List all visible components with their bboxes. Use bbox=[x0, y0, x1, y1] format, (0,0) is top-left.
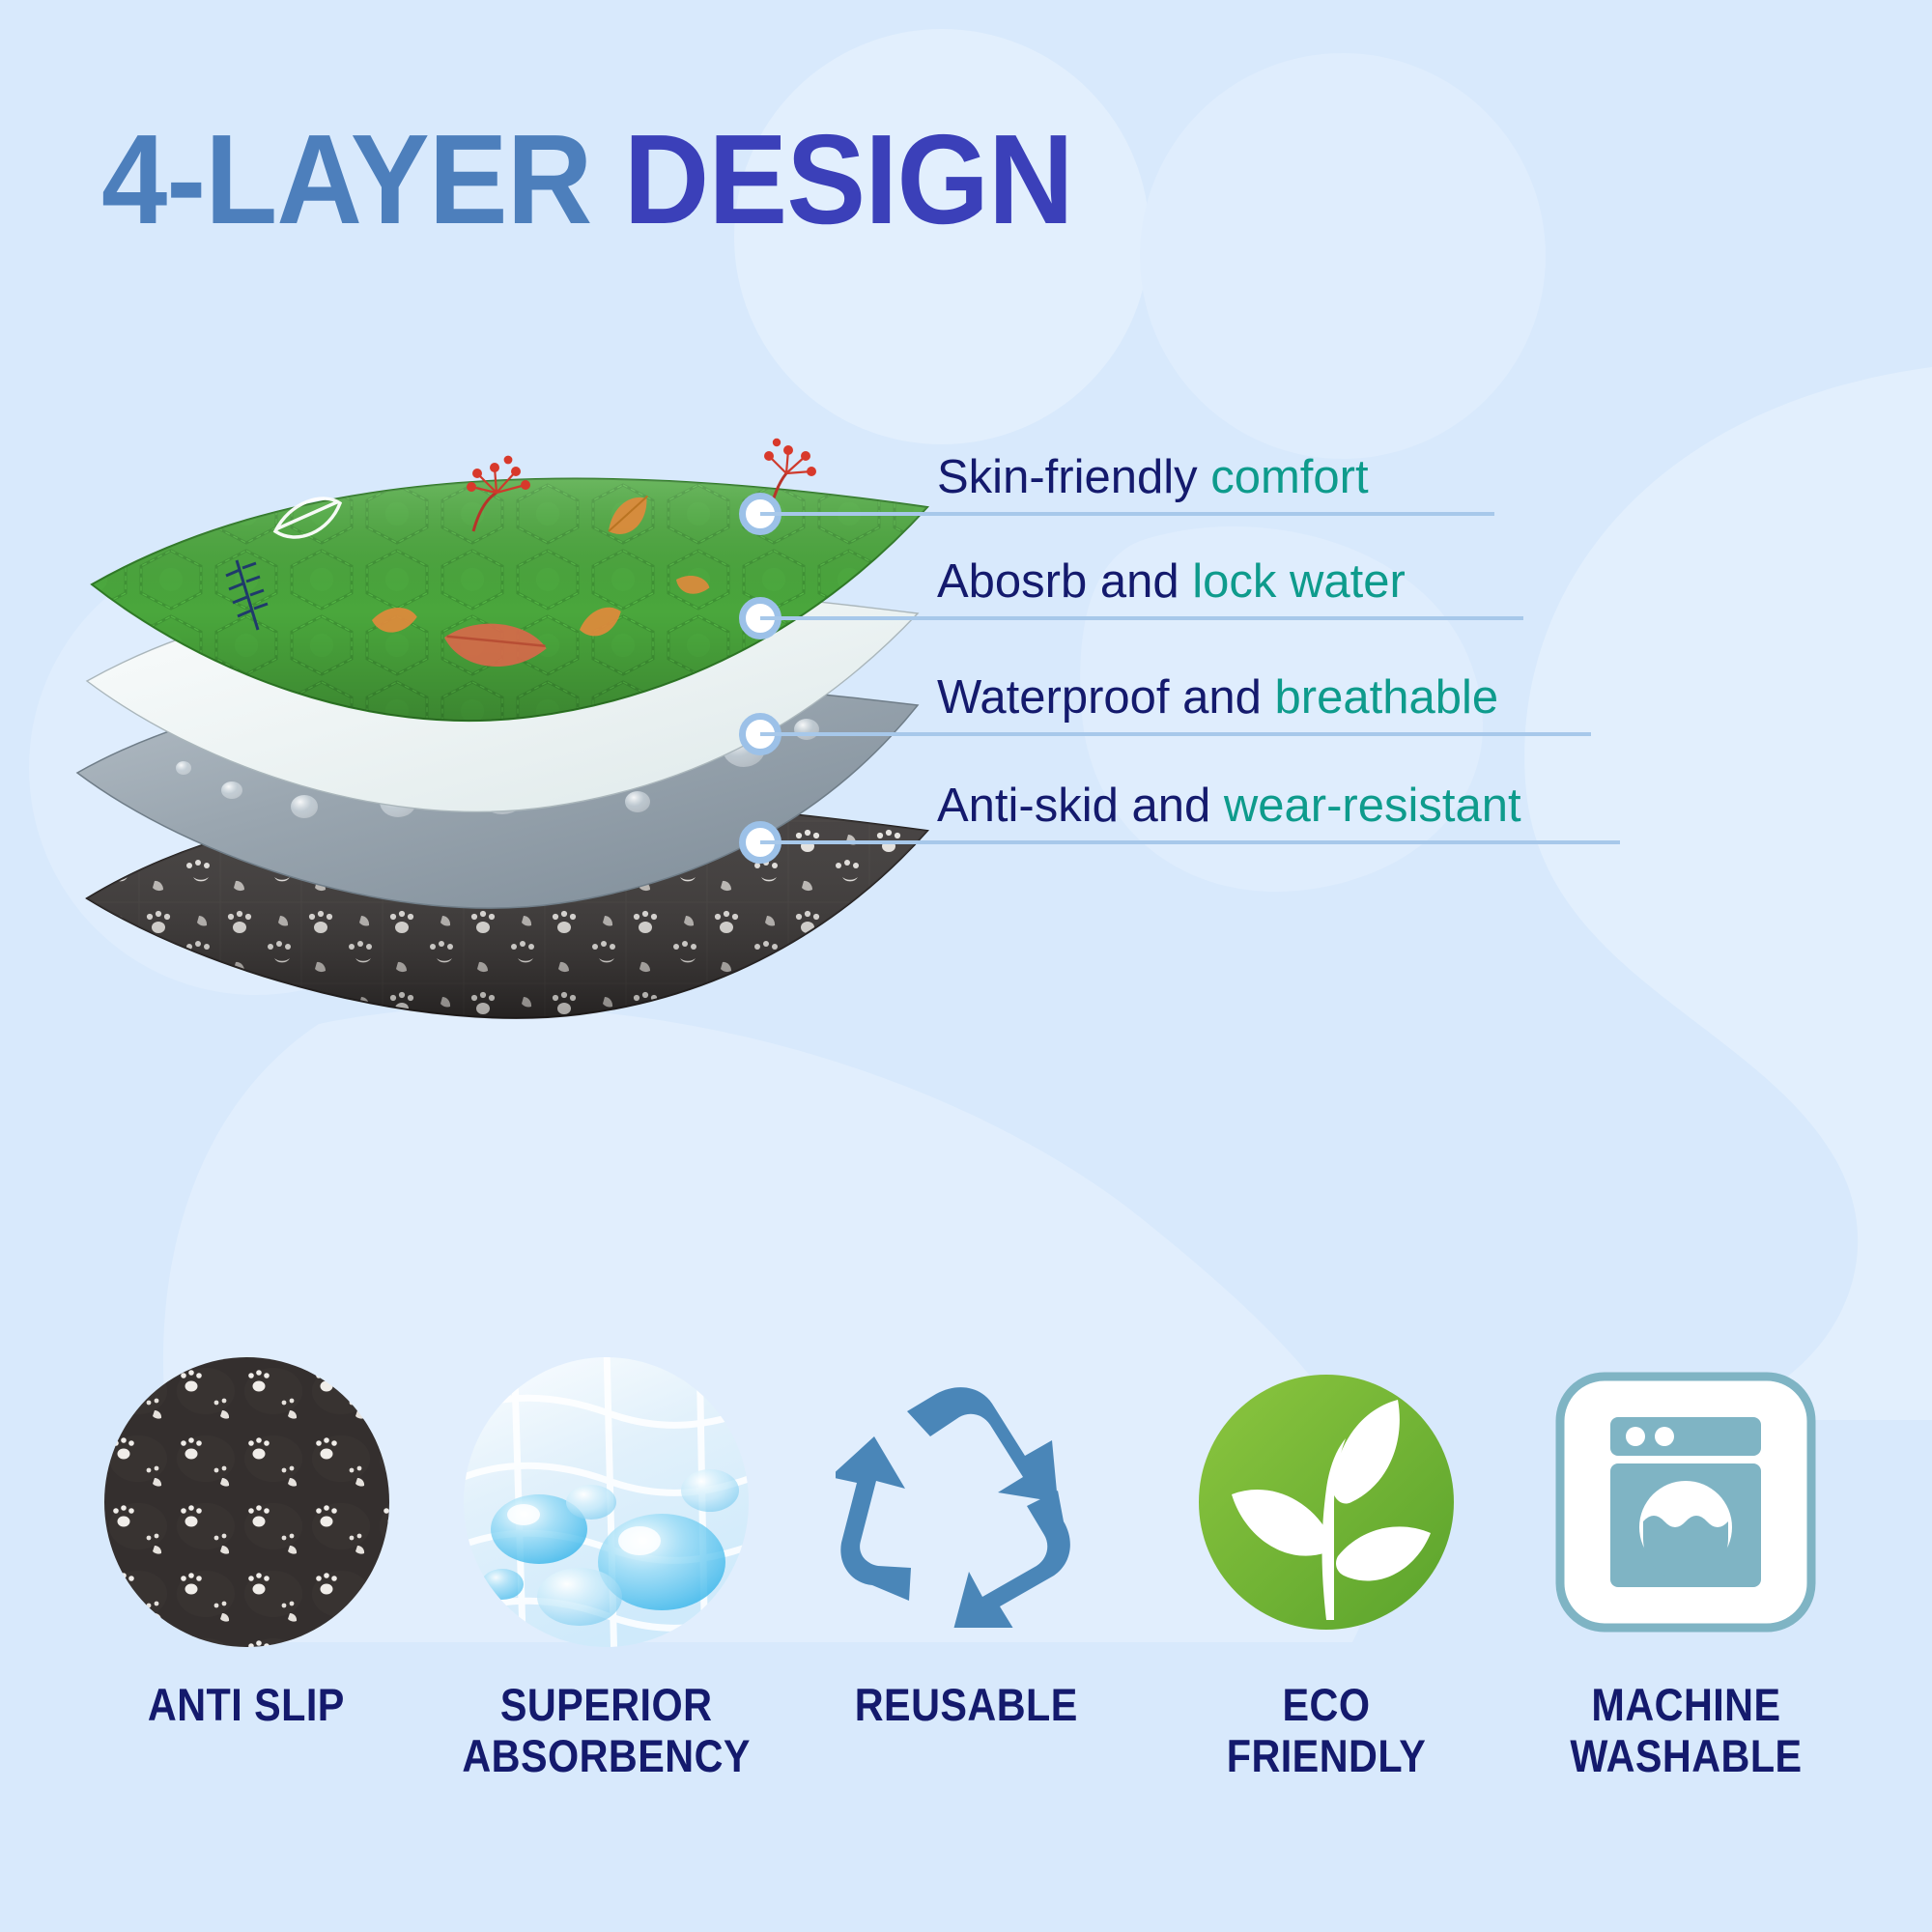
feature-reusable[interactable]: REUSABLE bbox=[797, 1357, 1135, 1731]
callout-text-highlight: wear-resistant bbox=[1224, 780, 1521, 832]
callout-text-plain: Abosrb and bbox=[937, 555, 1179, 608]
feature-eco-friendly[interactable]: ECO FRIENDLY bbox=[1157, 1357, 1495, 1781]
callout-leader-line bbox=[760, 616, 1523, 620]
feature-absorbency[interactable]: SUPERIOR ABSORBENCY bbox=[438, 1357, 776, 1781]
feature-art bbox=[836, 1357, 1096, 1647]
callout-text-plain: Waterproof and bbox=[937, 671, 1262, 724]
callout-leader-line bbox=[760, 840, 1620, 844]
absorbency-bubbles-swatch-icon bbox=[464, 1357, 749, 1647]
callout-leader-line bbox=[760, 732, 1591, 736]
title-part-two: DESIGN bbox=[624, 108, 1073, 250]
title-part-one: 4-LAYER bbox=[101, 108, 591, 250]
eco-leaf-icon bbox=[1191, 1367, 1462, 1637]
feature-art bbox=[104, 1357, 389, 1647]
washing-machine-icon bbox=[1550, 1367, 1821, 1637]
callout-text-highlight: breathable bbox=[1275, 671, 1499, 724]
feature-benefits-row: ANTI SLIP bbox=[0, 1357, 1932, 1898]
feature-caption: ECO FRIENDLY bbox=[1178, 1680, 1475, 1781]
feature-machine-washable[interactable]: MACHINE WASHABLE bbox=[1517, 1357, 1855, 1781]
callout-label-skin-friendly: Skin-friendly comfort bbox=[937, 450, 1369, 504]
callout-label-waterproof: Waterproof and breathable bbox=[937, 670, 1498, 724]
callout-label-absorb: Abosrb and lock water bbox=[937, 554, 1406, 609]
feature-caption: REUSABLE bbox=[854, 1680, 1077, 1731]
callout-label-anti-skid: Anti-skid and wear-resistant bbox=[937, 779, 1521, 833]
feature-art bbox=[1550, 1357, 1821, 1647]
feature-caption: MACHINE WASHABLE bbox=[1570, 1680, 1802, 1781]
callout-text-highlight: lock water bbox=[1192, 555, 1406, 608]
callout-text-plain: Anti-skid and bbox=[937, 780, 1210, 832]
feature-art bbox=[464, 1357, 749, 1647]
feature-anti-slip[interactable]: ANTI SLIP bbox=[77, 1357, 415, 1731]
feature-caption: ANTI SLIP bbox=[148, 1680, 345, 1731]
infographic-canvas: 4-LAYER DESIGN bbox=[0, 0, 1932, 1932]
feature-art bbox=[1191, 1357, 1462, 1647]
feature-caption: SUPERIOR ABSORBENCY bbox=[462, 1680, 751, 1781]
page-title: 4-LAYER DESIGN bbox=[101, 116, 1073, 243]
background-blob bbox=[1140, 53, 1546, 459]
anti-slip-fabric-swatch-icon bbox=[104, 1357, 389, 1647]
callout-text-plain: Skin-friendly bbox=[937, 451, 1198, 503]
callout-text-highlight: comfort bbox=[1210, 451, 1368, 503]
layer-stack-illustration bbox=[58, 415, 1179, 1111]
callout-leader-line bbox=[760, 512, 1494, 516]
recycle-icon bbox=[836, 1377, 1096, 1628]
